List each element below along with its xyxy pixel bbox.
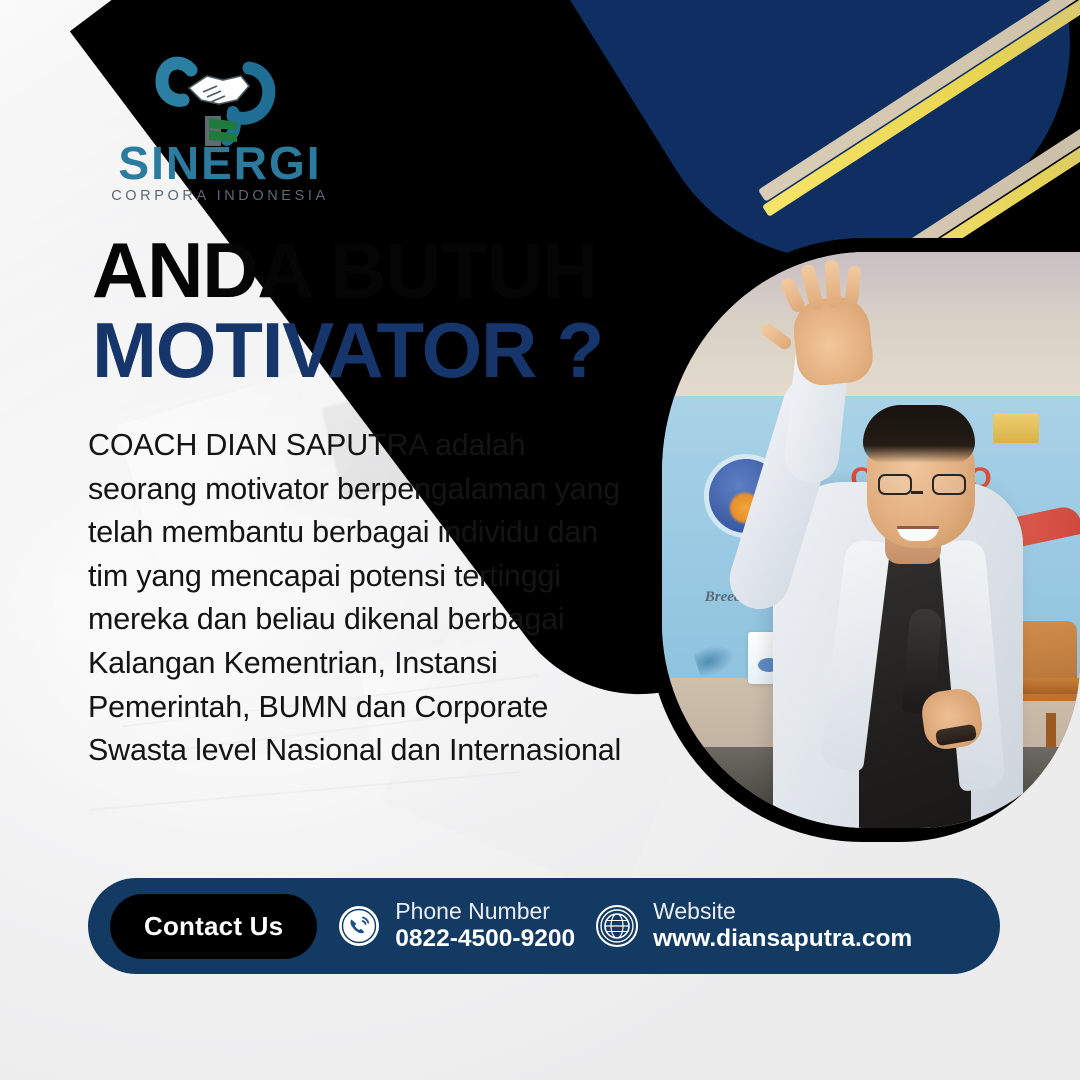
contact-item-website[interactable]: Website www.diansaputra.com — [595, 899, 912, 952]
body-paragraph: COACH DIAN SAPUTRA adalah seorang motiva… — [88, 424, 628, 773]
brand-logo: SINERGI CORPORA INDONESIA — [95, 52, 345, 204]
headline-line-2: MOTIVATOR ? — [92, 311, 692, 391]
contact-us-button[interactable]: Contact Us — [110, 894, 317, 959]
poster-canvas: CI NDO Bu ing Breeder G raining — [0, 0, 1080, 1080]
headline-line-1: ANDA BUTUH — [92, 234, 692, 307]
speaker-photo-frame: CI NDO Bu ing Breeder G raining — [648, 238, 1080, 842]
logo-tagline: CORPORA INDONESIA — [95, 188, 345, 204]
phone-value: 0822-4500-9200 — [395, 925, 575, 952]
page-title: ANDA BUTUH MOTIVATOR ? — [92, 234, 692, 390]
website-label: Website — [653, 899, 912, 925]
contact-item-phone[interactable]: Phone Number 0822-4500-9200 — [337, 899, 575, 952]
speaker-photo: CI NDO Bu ing Breeder G raining — [662, 252, 1080, 828]
logo-wordmark: SINERGI — [95, 140, 345, 186]
website-value: www.diansaputra.com — [653, 925, 912, 952]
phone-icon — [337, 904, 381, 948]
phone-label: Phone Number — [395, 899, 575, 925]
contact-bar: Contact Us Phone Number 0822-4500-9200 — [88, 878, 1000, 974]
globe-icon — [595, 904, 639, 948]
